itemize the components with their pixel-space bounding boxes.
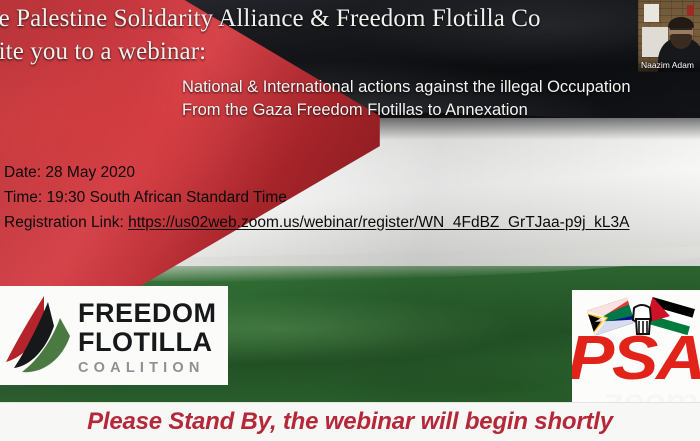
date-value: 28 May 2020 xyxy=(45,164,135,181)
registration-label: Registration Link: xyxy=(4,214,124,231)
webinar-waiting-screen: he Palestine Solidarity Alliance & Freed… xyxy=(0,0,700,441)
participant-glasses xyxy=(670,28,692,35)
participant-name-label: Naazim Adam xyxy=(638,59,700,72)
flotilla-word-freedom: FREEDOM xyxy=(78,300,217,327)
participant-video-tile[interactable]: Naazim Adam xyxy=(638,0,700,72)
sail-boat-mark xyxy=(4,292,80,380)
psa-acronym: PSA xyxy=(572,328,700,390)
flotilla-word-flotilla: FLOTILLA xyxy=(78,329,217,356)
webinar-subtitle-line-1: National & International actions against… xyxy=(182,75,700,99)
standby-message: Please Stand By, the webinar will begin … xyxy=(87,408,613,436)
webinar-details: Date: 28 May 2020 Time: 19:30 South Afri… xyxy=(4,160,700,235)
freedom-flotilla-coalition-logo: FREEDOM FLOTILLA COALITION xyxy=(0,286,228,385)
headline-line-2: vite you to a webinar: xyxy=(0,35,700,68)
webinar-subtitle-line-2: From the Gaza Freedom Flotillas to Annex… xyxy=(182,98,700,122)
flotilla-word-coalition: COALITION xyxy=(78,360,217,376)
headline-line-1: he Palestine Solidarity Alliance & Freed… xyxy=(0,2,700,35)
background-red-object xyxy=(687,5,694,16)
flotilla-wordmark: FREEDOM FLOTILLA COALITION xyxy=(78,300,217,376)
background-poster xyxy=(644,4,659,22)
detail-row-time: Time: 19:30 South African Standard Time xyxy=(4,185,700,210)
webinar-headline: he Palestine Solidarity Alliance & Freed… xyxy=(0,2,700,69)
detail-row-registration: Registration Link: https://us02web.zoom.… xyxy=(4,210,700,235)
time-label: Time: xyxy=(4,189,42,206)
psa-logo: PSA xyxy=(572,290,700,405)
time-value: 19:30 South African Standard Time xyxy=(47,189,287,206)
date-label: Date: xyxy=(4,164,41,181)
standby-banner: Please Stand By, the webinar will begin … xyxy=(0,402,700,441)
detail-row-date: Date: 28 May 2020 xyxy=(4,160,700,185)
registration-link[interactable]: https://us02web.zoom.us/webinar/register… xyxy=(128,214,629,231)
